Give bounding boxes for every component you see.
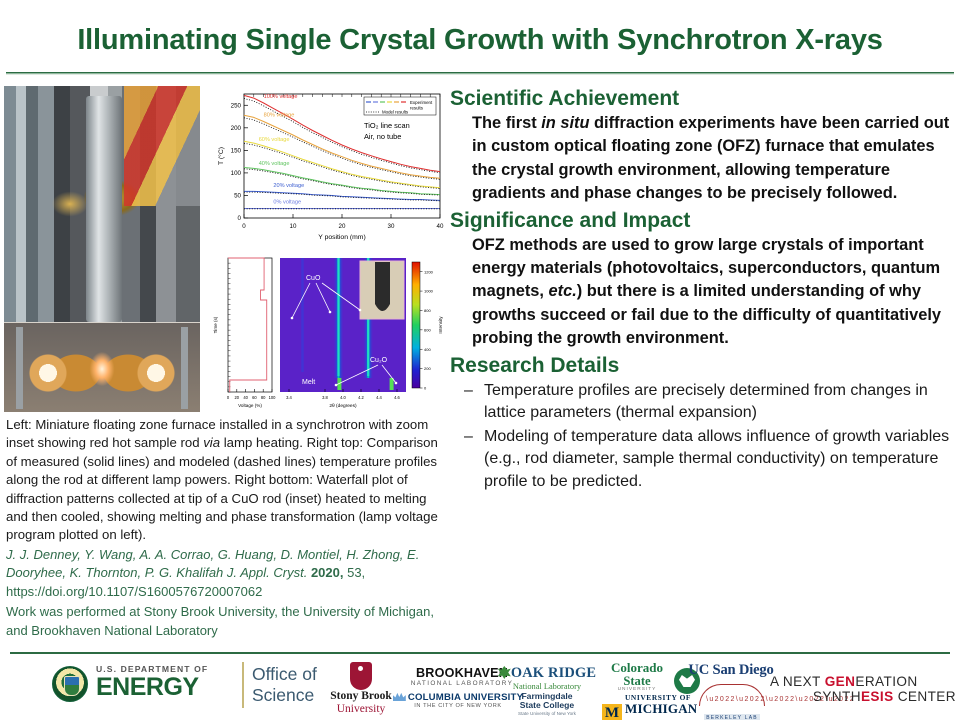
svg-text:results: results <box>410 106 424 111</box>
svg-text:30: 30 <box>388 223 395 230</box>
details-heading: Research Details <box>450 353 956 379</box>
svg-text:CuO: CuO <box>306 275 321 282</box>
colorado-state-line-2: State <box>592 675 682 688</box>
svg-text:4.4: 4.4 <box>376 395 382 400</box>
svg-text:Voltage (%): Voltage (%) <box>238 403 262 408</box>
svg-text:40: 40 <box>437 223 444 230</box>
svg-text:40: 40 <box>243 395 248 400</box>
svg-text:20: 20 <box>339 223 346 230</box>
oak-ridge-subtitle: National Laboratory <box>487 682 607 691</box>
svg-text:250: 250 <box>231 102 242 109</box>
svg-text:3.4: 3.4 <box>286 395 292 400</box>
page-title: Illuminating Single Crystal Growth with … <box>0 24 960 57</box>
diffraction-waterfall-chart: 020406080100Voltage (%)Time (s)3.43.84.0… <box>210 252 448 418</box>
list-item: – Temperature profiles are precisely det… <box>464 380 956 425</box>
michigan-block-m-icon: M <box>602 704 622 720</box>
caption-part-2: lamp heating. Right top: Comparison of m… <box>6 435 438 542</box>
svg-text:Experiment: Experiment <box>410 100 433 105</box>
details-list: – Temperature profiles are precisely det… <box>450 380 956 494</box>
michigan-line-2: MICHIGAN <box>625 702 697 715</box>
svg-text:80: 80 <box>261 395 266 400</box>
berkeley-lab-arch-icon: \u2022\u2022\u2022\u2022\u2022 <box>699 684 765 706</box>
colorado-state-line-3: UNIVERSITY <box>592 687 682 692</box>
office-line-1: Office of <box>252 664 317 685</box>
list-item: – Modeling of temperature data allows in… <box>464 426 956 494</box>
temperature-profile-svg: 010203040050100150200250Y position (mm)T… <box>214 86 446 248</box>
oak-ridge-wordmark: OAK RIDGE <box>511 665 596 682</box>
citation-acknowledgement: Work was performed at Stony Brook Univer… <box>6 603 450 640</box>
svg-text:0: 0 <box>242 223 246 230</box>
title-divider <box>6 72 954 75</box>
berkeley-lab-tag: BERKELEY LAB <box>704 714 760 720</box>
stony-brook-shield-icon <box>350 662 372 690</box>
angen-1b: GEN <box>825 674 856 689</box>
michigan-text: UNIVERSITY OFMICHIGAN <box>625 694 697 715</box>
details-item-1-text: Temperature profiles are precisely deter… <box>484 380 956 425</box>
oak-ridge-leaf-icon <box>498 666 511 679</box>
oak-ridge-logo: OAK RIDGE National Laboratory <box>487 664 607 691</box>
details-item-1-part-1: Temperature profiles are precisely deter… <box>484 382 928 422</box>
doe-wordmark: ENERGY <box>96 674 208 700</box>
angen-1a: A NEXT <box>770 674 825 689</box>
svg-text:60% voltage: 60% voltage <box>259 137 290 143</box>
svg-text:1200: 1200 <box>424 269 434 274</box>
svg-text:0% voltage: 0% voltage <box>273 200 301 206</box>
svg-text:50: 50 <box>234 192 241 199</box>
svg-text:4.2: 4.2 <box>358 395 364 400</box>
farmingdale-subtitle: State University of New York <box>504 711 590 716</box>
details-item-2-text: Modeling of temperature data allows infl… <box>484 426 956 494</box>
svg-text:T (°C): T (°C) <box>217 147 225 165</box>
details-item-2-italic: e.g. <box>489 450 516 467</box>
svg-text:150: 150 <box>231 147 242 154</box>
svg-text:400: 400 <box>424 347 431 352</box>
sponsor-logo-bar: U.S. DEPARTMENT OF ENERGY Office of Scie… <box>0 658 960 720</box>
colorado-state-line-1: Colorado <box>592 662 682 675</box>
dash-bullet-icon: – <box>464 426 484 494</box>
caption-italic: via <box>203 435 220 450</box>
svg-text:20: 20 <box>235 395 240 400</box>
citation-authors-line: J. J. Denney, Y. Wang, A. A. Corrao, G. … <box>6 546 450 601</box>
colorado-state-logo: Colorado State UNIVERSITY <box>592 662 682 692</box>
temperature-profile-chart: 010203040050100150200250Y position (mm)T… <box>214 86 446 248</box>
angen-2a: SYNTH <box>813 689 861 704</box>
right-content-column: Scientific Achievement The first in situ… <box>450 84 956 494</box>
berkeley-lab-logo: \u2022\u2022\u2022\u2022\u2022 BERKELEY … <box>690 684 774 720</box>
svg-text:Intensity: Intensity <box>438 316 443 334</box>
achievement-body-italic: in situ <box>541 114 589 132</box>
office-of-science-logo: Office of Science <box>252 664 317 706</box>
svg-text:Melt: Melt <box>302 379 315 386</box>
achievement-heading: Scientific Achievement <box>450 86 956 112</box>
svg-text:600: 600 <box>424 327 431 332</box>
svg-text:800: 800 <box>424 308 431 313</box>
farmingdale-line-2: State College <box>504 701 590 710</box>
details-item-2-part-2: , rod diameter, sample thermal conductiv… <box>484 450 938 490</box>
footer-divider <box>10 652 950 654</box>
doe-logo: U.S. DEPARTMENT OF ENERGY <box>96 664 208 700</box>
svg-text:0: 0 <box>238 215 242 222</box>
slide-root: Illuminating Single Crystal Growth with … <box>0 0 960 720</box>
svg-text:100: 100 <box>231 170 242 177</box>
logo-divider <box>242 662 244 708</box>
angen-1c: ERATION <box>855 674 917 689</box>
svg-text:4.0: 4.0 <box>340 395 346 400</box>
doe-seal-icon <box>52 666 88 702</box>
citation-block: J. J. Denney, Y. Wang, A. A. Corrao, G. … <box>6 546 450 642</box>
svg-text:80% voltage: 80% voltage <box>264 113 295 119</box>
svg-text:60: 60 <box>252 395 257 400</box>
significance-heading: Significance and Impact <box>450 208 956 234</box>
next-generation-synthesis-center-logo: A NEXT GENERATION SYNTHESIS CENTER <box>770 674 956 704</box>
svg-text:100% voltage: 100% voltage <box>264 94 298 100</box>
figure-caption: Left: Miniature floating zone furnace in… <box>6 416 450 545</box>
columbia-crown-icon <box>393 692 406 701</box>
furnace-photo-inset <box>4 322 200 412</box>
oak-ridge-wordmark-row: OAK RIDGE <box>487 664 607 682</box>
svg-text:200: 200 <box>231 125 242 132</box>
significance-body: OFZ methods are used to grow large cryst… <box>450 234 956 351</box>
inset-post-left <box>16 327 23 409</box>
achievement-body: The first in situ diffraction experiment… <box>450 112 956 206</box>
svg-text:Air, no tube: Air, no tube <box>364 132 401 141</box>
angen-2c: CENTER <box>894 689 956 704</box>
farmingdale-logo: Farmingdale State College State Universi… <box>504 692 590 716</box>
svg-text:200: 200 <box>424 366 431 371</box>
office-line-2: Science <box>252 685 317 706</box>
svg-text:2θ (degrees): 2θ (degrees) <box>329 403 357 409</box>
svg-text:100: 100 <box>269 395 277 400</box>
svg-text:3.8: 3.8 <box>322 395 328 400</box>
diffraction-waterfall-svg: 020406080100Voltage (%)Time (s)3.43.84.0… <box>210 252 448 418</box>
significance-body-italic: etc. <box>549 282 577 300</box>
furnace-photo-main <box>4 86 200 322</box>
achievement-body-1: The first <box>472 114 541 132</box>
dash-bullet-icon: – <box>464 380 484 425</box>
svg-text:20% voltage: 20% voltage <box>273 183 304 189</box>
furnace-photo <box>4 86 200 412</box>
svg-text:0: 0 <box>424 386 427 391</box>
svg-text:10: 10 <box>290 223 297 230</box>
citation-year: 2020, <box>311 565 344 580</box>
angen-2b: ESIS <box>861 689 894 704</box>
svg-text:1000: 1000 <box>424 289 434 294</box>
svg-text:Cu₂O: Cu₂O <box>370 357 388 364</box>
svg-text:TiO₂ line scan: TiO₂ line scan <box>364 121 410 130</box>
angen-line-2: SYNTHESIS CENTER <box>770 689 956 704</box>
svg-text:Model results: Model results <box>382 110 409 115</box>
svg-text:Y position (mm): Y position (mm) <box>318 234 365 241</box>
svg-text:40% voltage: 40% voltage <box>259 161 290 167</box>
svg-text:Time (s): Time (s) <box>213 316 218 333</box>
svg-text:0: 0 <box>227 395 230 400</box>
inset-post-right <box>181 327 188 409</box>
svg-text:4.6: 4.6 <box>394 395 400 400</box>
angen-line-1: A NEXT GENERATION <box>770 674 956 689</box>
